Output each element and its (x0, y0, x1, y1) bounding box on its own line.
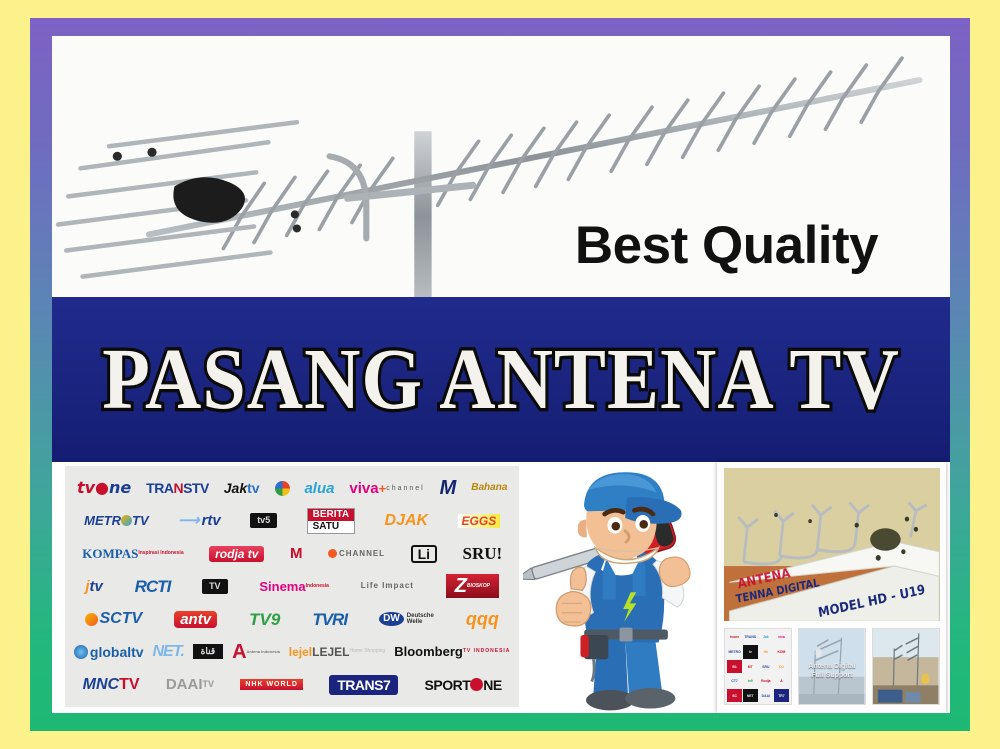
mini-logo-grid: tvone TRANS Jak viva METRO tv rtv KOM B1… (725, 629, 790, 705)
logo-jtv: jtv (85, 579, 103, 594)
antenna-install-thumb: Antena Digital Full Support (798, 628, 865, 706)
mini-logo: TR7 (774, 689, 789, 703)
mini-logo: B1 (727, 660, 742, 674)
bottom-section: tv●ne TRANSTV Jaktv alua viva+channel M … (52, 462, 950, 713)
thumb-caption: Antena Digital Full Support (802, 663, 862, 681)
logo-color-dot (275, 481, 290, 496)
mini-logo: CT7 (727, 674, 742, 688)
thumbnail-strip: tvone TRANS Jak viva METRO tv rtv KOM B1… (724, 628, 939, 706)
logo-arabic-channel: قناة (193, 644, 223, 659)
logo-metrotv: METRTV (84, 514, 148, 527)
technician-illustration (523, 462, 716, 713)
logo-net-tv: NET. (153, 644, 184, 660)
mini-logo: DJ (774, 660, 789, 674)
logo-row: SCTV antv TV9 TVRI DWDeutscheWelle qqq (69, 603, 514, 636)
rooftop-antenna-thumb (872, 628, 939, 706)
antenna-box-illustration: TENNA DIGITAL MODEL HD - U19 ANTENA (724, 468, 939, 621)
headline-banner: PASANG ANTENA TV (52, 297, 950, 462)
logo-mnctv: MNCTV (83, 677, 140, 693)
mini-logo: rtv (759, 645, 774, 659)
logo-row: jtv RCTI TV SinemaIndonesia Life Impact … (69, 570, 514, 603)
mini-logo: METRO (727, 645, 742, 659)
logo-nhk-world: NHK WORLD (240, 679, 303, 690)
logo-sportone: SPORTNE (425, 678, 502, 692)
logo-zee-bioskop: ZBIOSKOP (446, 574, 499, 598)
logo-row: MNCTV DAAITV NHK WORLD TRANS 7 SPORTNE (69, 668, 514, 701)
poster-inner: Best Quality PASANG ANTENA TV tv●ne TRAN… (52, 36, 950, 713)
mini-logo: tvone (727, 631, 742, 645)
headline-text: PASANG ANTENA TV (102, 329, 900, 430)
poster-frame: Best Quality PASANG ANTENA TV tv●ne TRAN… (30, 18, 970, 731)
logo-badge-tv: TV (202, 579, 228, 594)
logo-djak: DJAK (385, 513, 429, 529)
logo-tv9: TV9 (249, 611, 280, 628)
logo-tvone: tv●ne (77, 480, 131, 496)
mini-logo: MT (743, 660, 758, 674)
logo-rtv: ⟶rtv (178, 513, 221, 528)
logo-bloomberg-tv: BloombergTV INDONESIA (394, 645, 510, 658)
antenna-hero-photo: Best Quality (52, 36, 950, 297)
logo-eggs: EGGS (458, 514, 501, 528)
colorwheel-icon (275, 481, 290, 496)
mini-logo: KOM (774, 645, 789, 659)
logo-sctv: SCTV (85, 611, 142, 627)
mini-logo: SC (727, 689, 742, 703)
logo-globaltv: globaltv (74, 645, 144, 659)
mini-logo: SRU (759, 660, 774, 674)
logo-antena-a: AAntena Indonesia (232, 642, 280, 662)
logo-lejel-home-shopping: lejel LEJELHome Shopping (289, 646, 386, 658)
logo-m-channel: M (440, 478, 457, 498)
antenna-box-photo: TENNA DIGITAL MODEL HD - U19 ANTENA (724, 468, 939, 621)
logo-sinema-indonesia: SinemaIndonesia (259, 580, 329, 593)
mini-logo: NET (743, 689, 758, 703)
logo-m-red: M (290, 546, 303, 561)
logo-row: METRTV ⟶rtv tv5 BERITASATU DJAK EGGS (69, 505, 514, 538)
logo-rcti: RCTI (135, 578, 171, 595)
logo-bahana: Bahana (471, 483, 507, 493)
rooftop-antenna-illustration (873, 629, 938, 705)
mini-logo: Rodja (759, 674, 774, 688)
logo-trans7: TRANS 7 (329, 675, 398, 695)
logo-deutsche-welle: DWDeutscheWelle (379, 612, 434, 626)
mini-logo: DAAI (759, 689, 774, 703)
logo-row: tv●ne TRANSTV Jaktv alua viva+channel M … (69, 472, 514, 505)
mini-logo: viva (774, 631, 789, 645)
technician-mascot (523, 462, 716, 713)
logo-alua: alua (304, 481, 334, 496)
logo-kompas-tv: KOMPASInspirasi Indonesia (82, 547, 183, 560)
logo-tvri: TVRI (312, 611, 347, 628)
logo-viva-channel: viva+channel (349, 481, 424, 496)
logo-row: KOMPASInspirasi Indonesia rodja tv M CHA… (69, 537, 514, 570)
mini-logo: Jak (759, 631, 774, 645)
logo-o-channel: CHANNEL (328, 549, 385, 558)
logo-orange-qqq: qqq (466, 610, 499, 628)
logo-rodja-tv: rodja tv (209, 546, 264, 562)
logo-antv: antv (174, 611, 217, 628)
best-quality-tagline: Best Quality (575, 215, 878, 276)
mini-logo: TRANS (743, 631, 758, 645)
mini-logo: tv (743, 645, 758, 659)
logo-row: globaltv NET. قناة AAntena Indonesia lej… (69, 636, 514, 669)
logo-sru: SRU! (463, 545, 503, 562)
product-photo-collage: TENNA DIGITAL MODEL HD - U19 ANTENA (717, 462, 946, 713)
logo-life: Li (411, 545, 437, 563)
logo-life-impact: Life Impact (361, 582, 414, 590)
logo-beritasatu: BERITASATU (307, 508, 355, 534)
logo-blackbox-tv: tv5 (250, 513, 277, 528)
logo-transtv: TRANSTV (146, 481, 209, 495)
logo-jaktv: Jaktv (224, 481, 260, 495)
tv-logo-grid-thumb: tvone TRANS Jak viva METRO tv rtv KOM B1… (724, 628, 791, 706)
logo-daai-tv: DAAITV (166, 677, 214, 692)
mini-logo: tv9 (743, 674, 758, 688)
tv-channel-logo-panel: tv●ne TRANSTV Jaktv alua viva+channel M … (65, 466, 518, 707)
mini-logo: A (774, 674, 789, 688)
